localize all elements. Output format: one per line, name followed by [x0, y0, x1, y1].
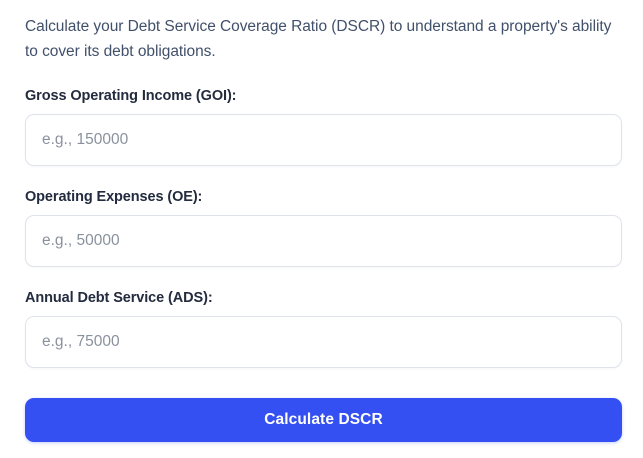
label-operating-expenses: Operating Expenses (OE): — [25, 188, 622, 206]
input-operating-expenses[interactable] — [25, 215, 622, 267]
dscr-calculator-panel: Calculate your Debt Service Coverage Rat… — [0, 0, 643, 458]
input-gross-operating-income[interactable] — [25, 114, 622, 166]
intro-description: Calculate your Debt Service Coverage Rat… — [25, 14, 617, 64]
calculate-dscr-button[interactable]: Calculate DSCR — [25, 398, 622, 442]
submit-row: Calculate DSCR — [25, 398, 622, 442]
label-gross-operating-income: Gross Operating Income (GOI): — [25, 87, 622, 105]
input-annual-debt-service[interactable] — [25, 316, 622, 368]
field-group-gross-operating-income: Gross Operating Income (GOI): — [25, 87, 622, 166]
field-group-annual-debt-service: Annual Debt Service (ADS): — [25, 289, 622, 368]
label-annual-debt-service: Annual Debt Service (ADS): — [25, 289, 622, 307]
field-group-operating-expenses: Operating Expenses (OE): — [25, 188, 622, 267]
